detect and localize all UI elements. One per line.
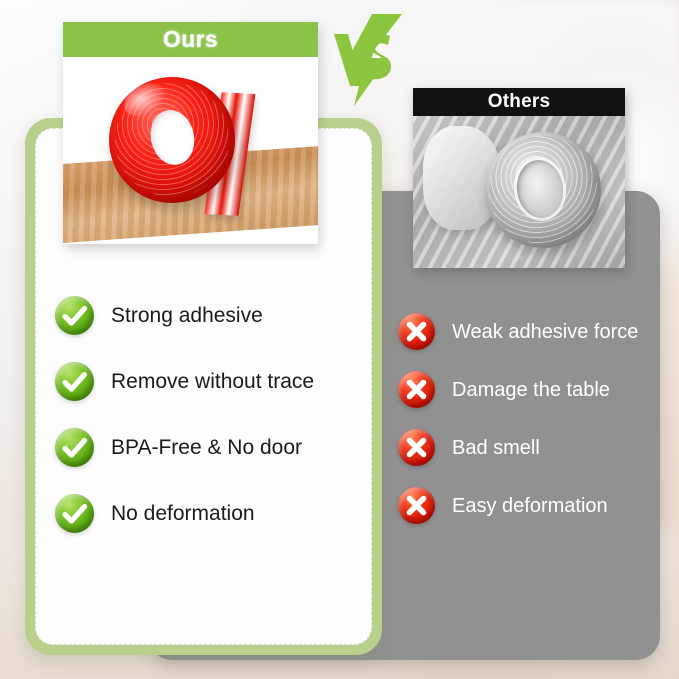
list-item-label: Easy deformation — [452, 495, 608, 517]
vs-lightning-icon — [328, 12, 408, 108]
ours-header-bar: Ours — [63, 22, 318, 57]
list-item: Strong adhesive — [55, 296, 385, 335]
others-header-bar: Others — [413, 88, 625, 116]
list-item-label: Bad smell — [452, 437, 540, 459]
others-product-image — [413, 116, 625, 268]
list-item-label: Remove without trace — [111, 370, 314, 393]
list-item: Weak adhesive force — [398, 313, 678, 350]
list-item: Bad smell — [398, 429, 678, 466]
x-circle-icon — [398, 371, 435, 408]
x-circle-icon — [398, 313, 435, 350]
list-item: Damage the table — [398, 371, 678, 408]
list-item-label: No deformation — [111, 502, 255, 525]
list-item: Easy deformation — [398, 487, 678, 524]
check-circle-icon — [55, 494, 94, 533]
check-circle-icon — [55, 296, 94, 335]
ours-header-label: Ours — [163, 26, 218, 53]
list-item-label: Damage the table — [452, 379, 610, 401]
ours-product-image — [63, 57, 318, 244]
list-item: No deformation — [55, 494, 385, 533]
check-circle-icon — [55, 428, 94, 467]
infographic-canvas: Others Ours — [0, 0, 679, 679]
list-item: Remove without trace — [55, 362, 385, 401]
check-circle-icon — [55, 362, 94, 401]
cons-list: Weak adhesive force Damage the table Bad… — [398, 313, 678, 524]
list-item-label: Strong adhesive — [111, 304, 263, 327]
x-circle-icon — [398, 487, 435, 524]
ours-product-card: Ours — [63, 22, 318, 244]
pros-list: Strong adhesive Remove without trace BPA… — [55, 296, 385, 533]
list-item-label: BPA-Free & No door — [111, 436, 302, 459]
others-header-label: Others — [488, 91, 550, 113]
list-item-label: Weak adhesive force — [452, 321, 638, 343]
others-product-card: Others — [413, 88, 625, 268]
x-circle-icon — [398, 429, 435, 466]
list-item: BPA-Free & No door — [55, 428, 385, 467]
